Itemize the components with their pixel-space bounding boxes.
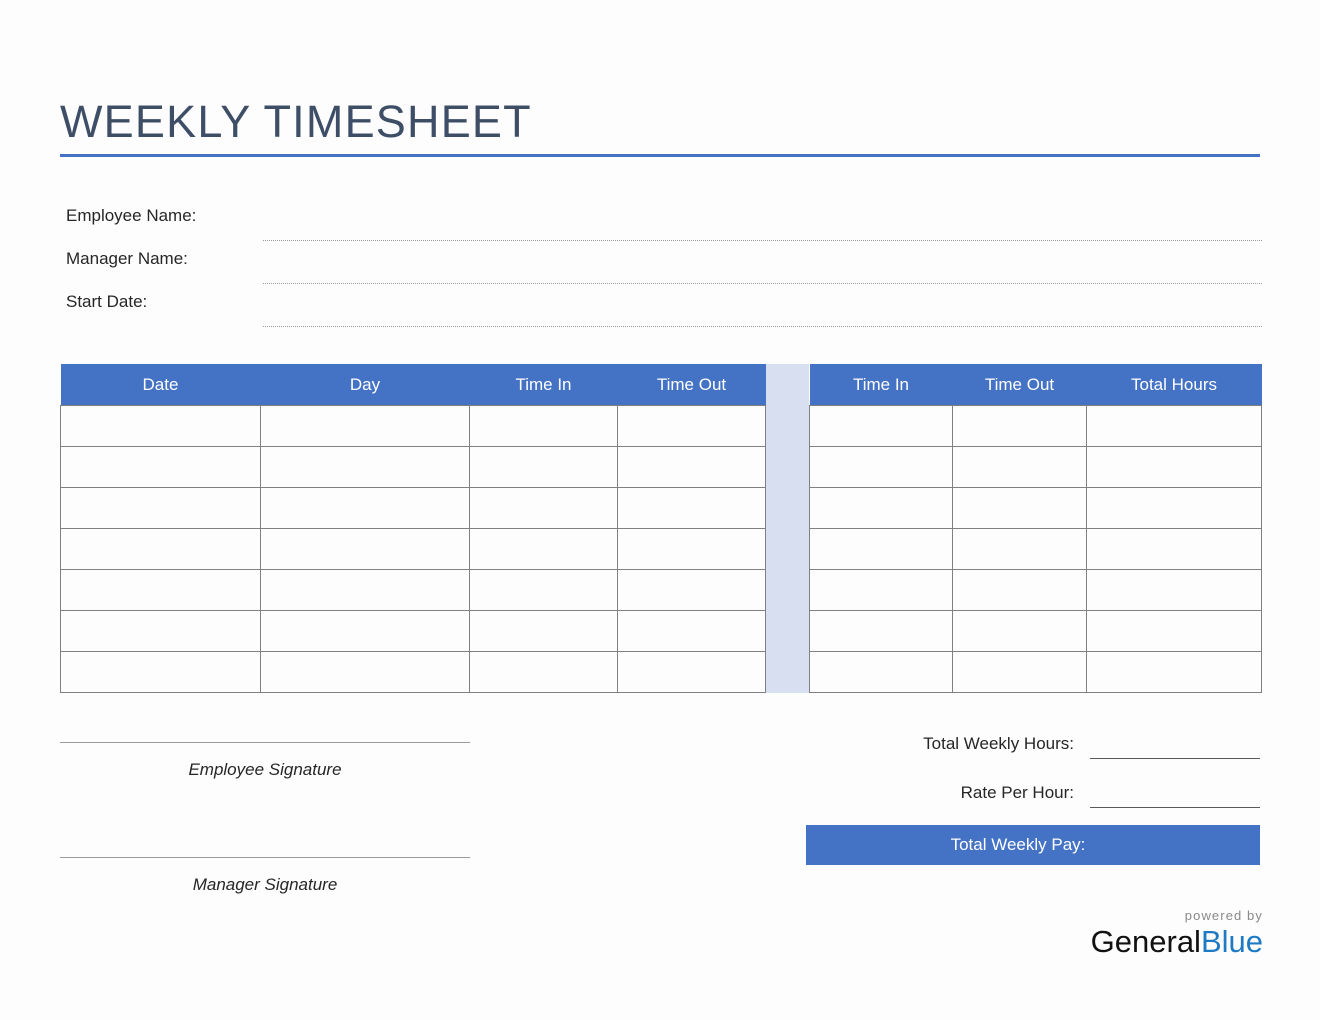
page-title: WEEKLY TIMESHEET bbox=[60, 96, 1260, 148]
total-row-rate-per-hour: Rate Per Hour: bbox=[806, 779, 1260, 828]
cell-total-hours[interactable] bbox=[1087, 529, 1262, 570]
cell-date[interactable] bbox=[61, 652, 261, 693]
logo-text-general: General bbox=[1091, 924, 1201, 959]
cell-time-in[interactable] bbox=[470, 529, 618, 570]
cell-time-in[interactable] bbox=[470, 570, 618, 611]
total-weekly-hours-input[interactable] bbox=[1090, 758, 1260, 759]
cell-time-in-2[interactable] bbox=[810, 652, 953, 693]
cell-time-out[interactable] bbox=[618, 570, 766, 611]
rate-per-hour-input[interactable] bbox=[1090, 807, 1260, 808]
title-section: WEEKLY TIMESHEET bbox=[60, 96, 1260, 157]
cell-time-in-2[interactable] bbox=[810, 406, 953, 447]
cell-time-out-2[interactable] bbox=[953, 529, 1087, 570]
column-header-time-out: Time Out bbox=[618, 364, 766, 406]
cell-time-in[interactable] bbox=[470, 611, 618, 652]
employee-info-form: Employee Name: Manager Name: Start Date: bbox=[66, 206, 1262, 335]
cell-total-hours[interactable] bbox=[1087, 406, 1262, 447]
timesheet-table-left: Date Day Time In Time Out bbox=[60, 364, 766, 693]
table-row bbox=[810, 406, 1262, 447]
timesheet-tables: Date Day Time In Time Out bbox=[60, 364, 1260, 693]
cell-time-out-2[interactable] bbox=[953, 406, 1087, 447]
employee-name-input[interactable] bbox=[263, 240, 1262, 241]
total-weekly-pay-bar[interactable]: Total Weekly Pay: bbox=[806, 825, 1260, 865]
form-row-manager-name: Manager Name: bbox=[66, 249, 1262, 292]
employee-name-label: Employee Name: bbox=[66, 206, 196, 226]
cell-time-in-2[interactable] bbox=[810, 611, 953, 652]
cell-time-out[interactable] bbox=[618, 447, 766, 488]
cell-day[interactable] bbox=[261, 447, 470, 488]
total-weekly-pay-label: Total Weekly Pay: bbox=[951, 835, 1086, 855]
logo-text-blue: Blue bbox=[1201, 924, 1263, 959]
column-header-time-in-2: Time In bbox=[810, 364, 953, 406]
totals-section: Total Weekly Hours: Rate Per Hour: bbox=[806, 730, 1260, 828]
table-right-body bbox=[810, 406, 1262, 693]
cell-day[interactable] bbox=[261, 652, 470, 693]
timesheet-table-right: Time In Time Out Total Hours bbox=[809, 364, 1262, 693]
table-right-header-row: Time In Time Out Total Hours bbox=[810, 364, 1262, 406]
cell-time-out-2[interactable] bbox=[953, 652, 1087, 693]
cell-time-out-2[interactable] bbox=[953, 488, 1087, 529]
table-row bbox=[61, 611, 766, 652]
employee-signature-caption: Employee Signature bbox=[60, 760, 470, 780]
cell-total-hours[interactable] bbox=[1087, 611, 1262, 652]
logo-wordmark: GeneralBlue bbox=[1091, 924, 1263, 960]
table-left-header-row: Date Day Time In Time Out bbox=[61, 364, 766, 406]
table-row bbox=[810, 488, 1262, 529]
table-row bbox=[810, 447, 1262, 488]
cell-total-hours[interactable] bbox=[1087, 652, 1262, 693]
cell-date[interactable] bbox=[61, 611, 261, 652]
cell-date[interactable] bbox=[61, 529, 261, 570]
cell-date[interactable] bbox=[61, 570, 261, 611]
table-gutter-spacer bbox=[766, 364, 809, 693]
cell-time-out[interactable] bbox=[618, 488, 766, 529]
cell-total-hours[interactable] bbox=[1087, 488, 1262, 529]
form-row-start-date: Start Date: bbox=[66, 292, 1262, 335]
title-underline-rule bbox=[60, 154, 1260, 157]
rate-per-hour-label: Rate Per Hour: bbox=[961, 783, 1074, 803]
cell-date[interactable] bbox=[61, 406, 261, 447]
signature-gap bbox=[60, 780, 470, 857]
signature-section: Employee Signature Manager Signature bbox=[60, 742, 470, 895]
cell-date[interactable] bbox=[61, 488, 261, 529]
manager-signature-line[interactable] bbox=[60, 857, 470, 858]
cell-time-out[interactable] bbox=[618, 406, 766, 447]
cell-time-in[interactable] bbox=[470, 652, 618, 693]
table-row bbox=[810, 652, 1262, 693]
manager-name-label: Manager Name: bbox=[66, 249, 188, 269]
form-row-employee-name: Employee Name: bbox=[66, 206, 1262, 249]
column-header-day: Day bbox=[261, 364, 470, 406]
cell-time-in[interactable] bbox=[470, 447, 618, 488]
cell-day[interactable] bbox=[261, 570, 470, 611]
table-row bbox=[810, 570, 1262, 611]
cell-time-out[interactable] bbox=[618, 611, 766, 652]
total-weekly-hours-label: Total Weekly Hours: bbox=[923, 734, 1074, 754]
cell-time-out-2[interactable] bbox=[953, 570, 1087, 611]
table-row bbox=[61, 488, 766, 529]
cell-time-in-2[interactable] bbox=[810, 447, 953, 488]
cell-time-out[interactable] bbox=[618, 529, 766, 570]
table-row bbox=[61, 570, 766, 611]
employee-signature-line[interactable] bbox=[60, 742, 470, 743]
table-row bbox=[61, 652, 766, 693]
start-date-input[interactable] bbox=[263, 326, 1262, 327]
cell-date[interactable] bbox=[61, 447, 261, 488]
table-left-body bbox=[61, 406, 766, 693]
table-row bbox=[810, 529, 1262, 570]
cell-time-in-2[interactable] bbox=[810, 488, 953, 529]
start-date-label: Start Date: bbox=[66, 292, 147, 312]
column-header-time-in: Time In bbox=[470, 364, 618, 406]
cell-time-out-2[interactable] bbox=[953, 447, 1087, 488]
table-row bbox=[61, 447, 766, 488]
manager-name-input[interactable] bbox=[263, 283, 1262, 284]
cell-time-in-2[interactable] bbox=[810, 529, 953, 570]
cell-day[interactable] bbox=[261, 488, 470, 529]
cell-time-out-2[interactable] bbox=[953, 611, 1087, 652]
cell-time-out[interactable] bbox=[618, 652, 766, 693]
table-row bbox=[61, 406, 766, 447]
cell-total-hours[interactable] bbox=[1087, 447, 1262, 488]
cell-day[interactable] bbox=[261, 406, 470, 447]
cell-day[interactable] bbox=[261, 611, 470, 652]
generalblue-logo: powered by GeneralBlue bbox=[1091, 908, 1263, 960]
cell-time-in[interactable] bbox=[470, 406, 618, 447]
manager-signature-caption: Manager Signature bbox=[60, 875, 470, 895]
powered-by-label: powered by bbox=[1091, 908, 1263, 924]
cell-day[interactable] bbox=[261, 529, 470, 570]
column-header-date: Date bbox=[61, 364, 261, 406]
column-header-total-hours: Total Hours bbox=[1087, 364, 1262, 406]
cell-total-hours[interactable] bbox=[1087, 570, 1262, 611]
cell-time-in[interactable] bbox=[470, 488, 618, 529]
column-header-time-out-2: Time Out bbox=[953, 364, 1087, 406]
cell-time-in-2[interactable] bbox=[810, 570, 953, 611]
timesheet-page: WEEKLY TIMESHEET Employee Name: Manager … bbox=[0, 0, 1320, 1020]
table-row bbox=[810, 611, 1262, 652]
total-row-weekly-hours: Total Weekly Hours: bbox=[806, 730, 1260, 779]
table-row bbox=[61, 529, 766, 570]
